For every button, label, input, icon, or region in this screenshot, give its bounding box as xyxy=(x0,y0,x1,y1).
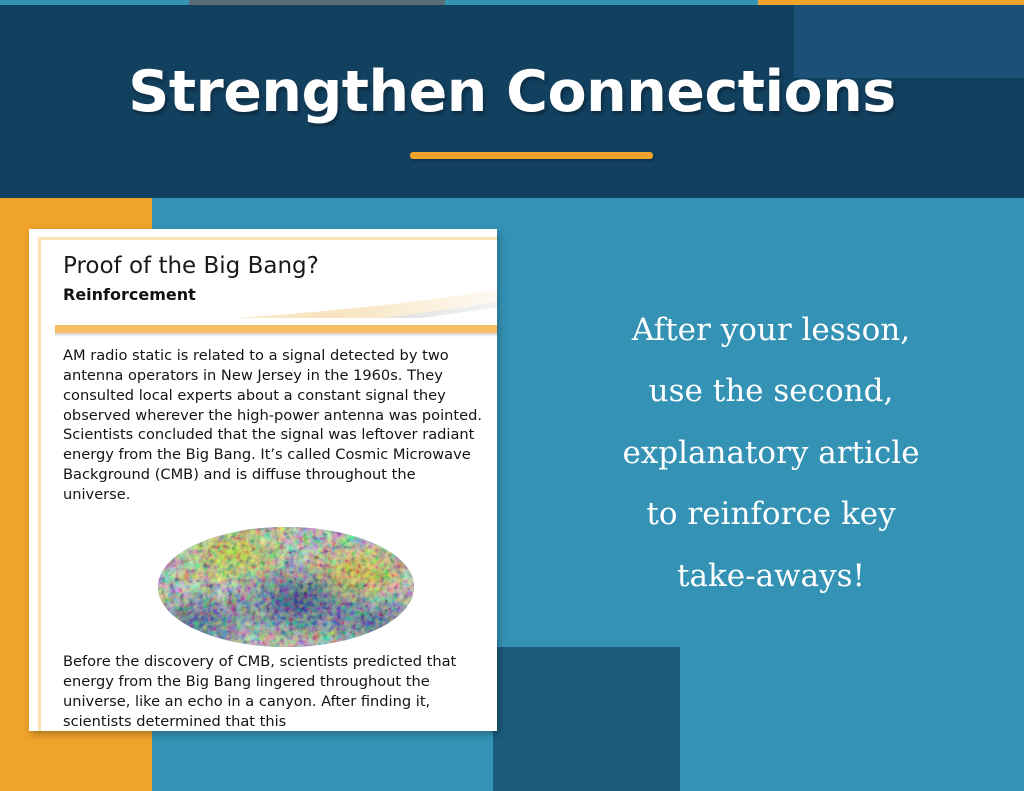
title-underline-accent xyxy=(410,152,653,159)
document-paragraph-1: AM radio static is related to a signal d… xyxy=(63,346,483,505)
caption-line-2: use the second, xyxy=(545,361,997,422)
document-orange-rule xyxy=(55,325,497,333)
document-title: Proof of the Big Bang? xyxy=(63,253,319,279)
document-header: Proof of the Big Bang? Reinforcement xyxy=(41,240,497,318)
slide-title: Strengthen Connections xyxy=(0,64,1024,121)
document-subtitle: Reinforcement xyxy=(63,285,196,304)
document-rule-shadow xyxy=(55,333,497,337)
caption-line-5: take-aways! xyxy=(545,546,997,607)
dark-teal-bottom-block xyxy=(493,647,680,791)
document-card-inner: Proof of the Big Bang? Reinforcement AM … xyxy=(38,237,497,731)
caption-line-4: to reinforce key xyxy=(545,484,997,545)
caption-line-3: explanatory article xyxy=(545,423,997,484)
document-card[interactable]: Proof of the Big Bang? Reinforcement AM … xyxy=(29,229,497,731)
caption-text: After your lesson, use the second, expla… xyxy=(545,300,997,607)
caption-line-1: After your lesson, xyxy=(545,300,997,361)
cmb-all-sky-map-figure xyxy=(156,512,416,662)
document-paragraph-2: Before the discovery of CMB, scientists … xyxy=(63,652,491,731)
slide-canvas: Strengthen Connections xyxy=(0,0,1024,791)
